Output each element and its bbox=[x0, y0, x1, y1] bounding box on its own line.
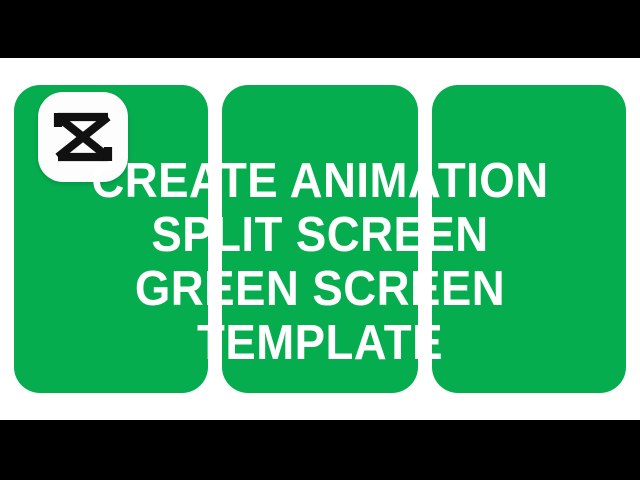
letterbox-bar-bottom bbox=[0, 420, 640, 480]
green-screen-panel-right[interactable] bbox=[432, 85, 626, 393]
green-screen-panel-center[interactable] bbox=[222, 85, 418, 393]
letterbox-bar-top bbox=[0, 0, 640, 58]
template-canvas: CREATE ANIMATION SPLIT SCREEN GREEN SCRE… bbox=[0, 58, 640, 420]
capcut-logo-icon bbox=[38, 92, 128, 182]
video-frame: CREATE ANIMATION SPLIT SCREEN GREEN SCRE… bbox=[0, 0, 640, 480]
capcut-mark-icon bbox=[52, 109, 114, 165]
